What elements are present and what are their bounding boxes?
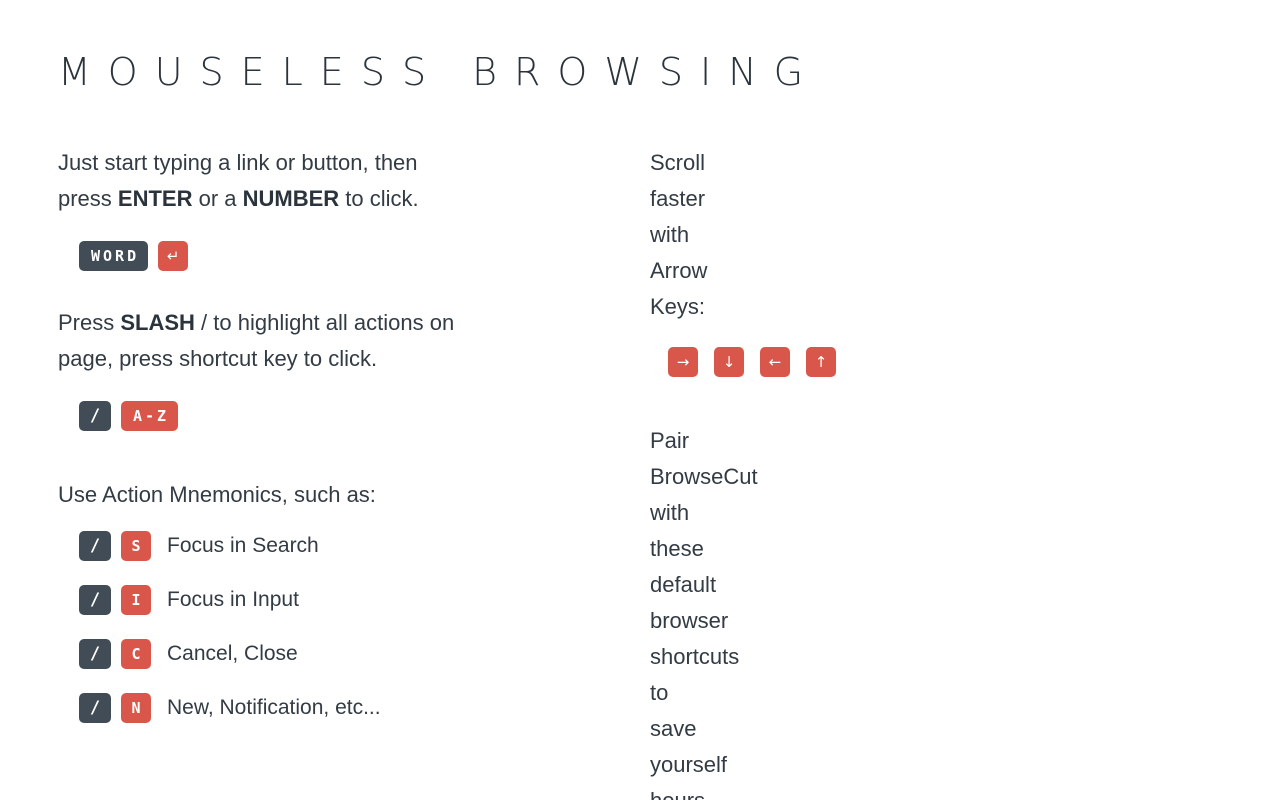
arrow-keys-row: → ↓ ← ↑ <box>650 347 690 377</box>
arrow-right-key[interactable]: → <box>668 347 698 377</box>
content-columns: Just start typing a link or button, then… <box>0 145 1280 800</box>
spacer <box>650 377 690 423</box>
scroll-block: Scroll faster with Arrow Keys: → ↓ ← ↑ <box>650 145 690 377</box>
pairing-line-1: Pair BrowseCut with these default browse… <box>650 428 758 633</box>
mouseless-browsing-page: MOUSELESS BROWSING Just start typing a l… <box>0 0 1280 800</box>
arrow-left-key[interactable]: ← <box>760 347 790 377</box>
right-column: Scroll faster with Arrow Keys: → ↓ ← ↑ P… <box>0 145 690 800</box>
page-title: MOUSELESS BROWSING <box>58 50 820 94</box>
arrow-down-key[interactable]: ↓ <box>714 347 744 377</box>
spacer <box>650 325 690 347</box>
pairing-line-2: shortcuts to save yourself hours clickin… <box>650 644 739 800</box>
pairing-paragraph: Pair BrowseCut with these default browse… <box>650 423 690 800</box>
scroll-heading: Scroll faster with Arrow Keys: <box>650 145 690 325</box>
arrow-up-key[interactable]: ↑ <box>806 347 836 377</box>
pairing-block: Pair BrowseCut with these default browse… <box>650 423 690 800</box>
